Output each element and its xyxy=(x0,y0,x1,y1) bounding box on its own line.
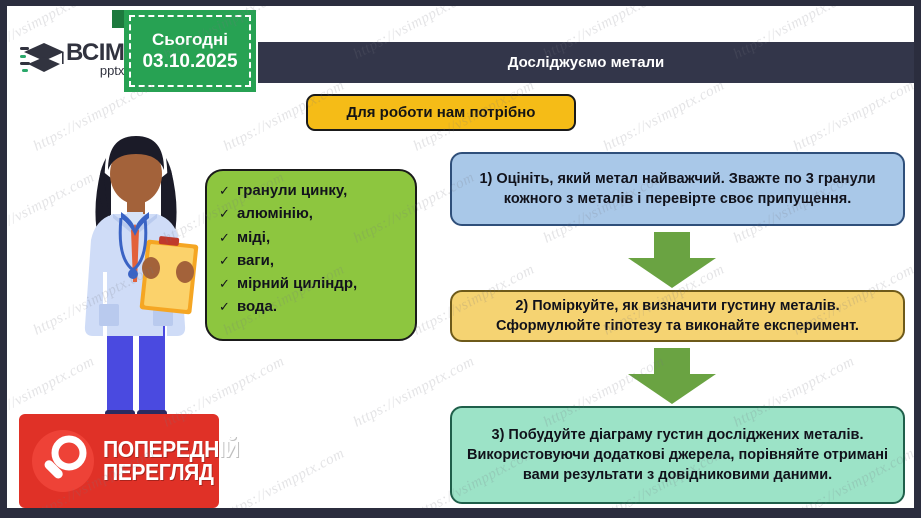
step-box-1: 1) Оцініть, який метал найважчий. Зважте… xyxy=(450,152,905,226)
material-label: гранули цинку, xyxy=(237,179,347,202)
materials-list: ✓гранули цинку, ✓алюмінію, ✓міді, ✓ваги,… xyxy=(219,179,415,319)
preview-badge-text: ПОПЕРЕДНІЙ ПЕРЕГЛЯД xyxy=(103,438,251,485)
material-label: ваги, xyxy=(237,249,274,272)
material-label: міді, xyxy=(237,226,270,249)
presentation-slide: ✓гранули цинку, ✓алюмінію, ✓міді, ✓ваги,… xyxy=(0,0,921,518)
scientist-illustration xyxy=(59,118,219,418)
section-heading-label: Для роботи нам потрібно xyxy=(347,104,536,121)
brand-logo-text: ВСІМ pptx xyxy=(66,41,124,77)
check-icon: ✓ xyxy=(219,204,237,224)
watermark-text: https://vsimpptx.com xyxy=(601,77,728,155)
step-box-2: 2) Поміркуйте, як визначити густину мета… xyxy=(450,290,905,342)
graduation-cap-icon xyxy=(20,39,64,79)
step-text: 2) Поміркуйте, як визначити густину мета… xyxy=(464,296,891,336)
check-icon: ✓ xyxy=(219,251,237,271)
check-icon: ✓ xyxy=(219,228,237,248)
slide-title-bar: Досліджуємо метали xyxy=(258,42,914,83)
list-item: ✓алюмінію, xyxy=(219,202,415,225)
preview-badge-line2: ПЕРЕГЛЯД xyxy=(103,461,239,484)
check-icon: ✓ xyxy=(219,274,237,294)
check-icon: ✓ xyxy=(219,181,237,201)
scientist-figure-icon xyxy=(59,118,219,418)
material-label: вода. xyxy=(237,295,277,318)
arrow-down-glyph xyxy=(624,232,720,288)
material-label: мірний циліндр, xyxy=(237,272,357,295)
preview-badge-line1: ПОПЕРЕДНІЙ xyxy=(103,438,239,461)
list-item: ✓ваги, xyxy=(219,249,415,272)
step-text: 3) Побудуйте діаграму густин досліджених… xyxy=(464,425,891,485)
date-badge: Сьогодні 03.10.2025 xyxy=(124,10,256,92)
list-item: ✓міді, xyxy=(219,226,415,249)
step-text: 1) Оцініть, який метал найважчий. Зважте… xyxy=(464,169,891,209)
preview-badge: ПОПЕРЕДНІЙ ПЕРЕГЛЯД xyxy=(19,414,219,508)
section-heading-pill: Для роботи нам потрібно xyxy=(306,94,576,131)
list-item: ✓мірний циліндр, xyxy=(219,272,415,295)
magnifier-glyph xyxy=(29,427,97,495)
down-arrow-icon xyxy=(624,232,720,288)
check-icon: ✓ xyxy=(219,297,237,317)
down-arrow-icon xyxy=(624,348,720,404)
slide-canvas: ✓гранули цинку, ✓алюмінію, ✓міді, ✓ваги,… xyxy=(7,6,914,508)
brand-logo: ВСІМ pptx xyxy=(14,28,132,90)
magnifier-icon xyxy=(29,427,97,495)
date-badge-label: Сьогодні xyxy=(152,29,228,50)
arrow-down-glyph xyxy=(624,348,720,404)
material-label: алюмінію, xyxy=(237,202,313,225)
step-box-3: 3) Побудуйте діаграму густин досліджених… xyxy=(450,406,905,504)
page-title: Досліджуємо метали xyxy=(508,54,665,71)
brand-name: ВСІМ xyxy=(66,41,124,65)
date-badge-value: 03.10.2025 xyxy=(142,50,237,74)
list-item: ✓вода. xyxy=(219,295,415,318)
watermark-text: https://vsimpptx.com xyxy=(791,77,914,155)
list-item: ✓гранули цинку, xyxy=(219,179,415,202)
materials-list-box: ✓гранули цинку, ✓алюмінію, ✓міді, ✓ваги,… xyxy=(205,169,417,341)
